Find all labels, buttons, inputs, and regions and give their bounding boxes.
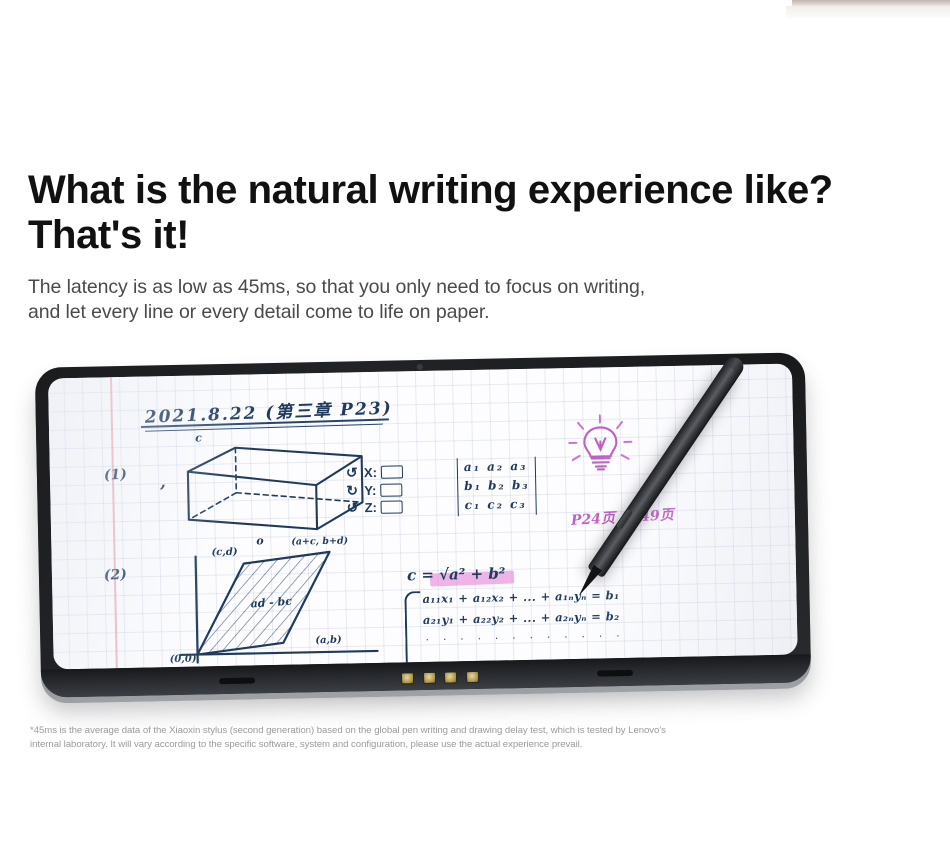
matrix-cells: a₁ a₂ a₃ b₁ b₂ b₃ c₁ c₂ c₃ <box>461 457 533 516</box>
subtitle-line-2: and let every line or every detail come … <box>28 300 928 325</box>
equation-brace <box>404 591 422 669</box>
device-stage: 2021.8.22 (第三章 P23) (1) , <box>0 340 950 720</box>
note-point-origin: (0,0) <box>170 654 197 666</box>
rotation-arrow-icon: ↻ <box>346 482 360 500</box>
note-equation-system: a₁₁x₁ + a₁₂x₂ + ... + a₁ₙyₙ = b₁ a₂₁y₁ +… <box>404 584 655 648</box>
cuboid-drawing <box>181 440 369 536</box>
footnote-line-2: internal laboratory. It will vary accord… <box>30 738 935 752</box>
note-xyz-row-y: ↻ Y: <box>346 480 454 500</box>
pogo-pin <box>444 671 457 683</box>
note-xyz-list: ↺ X: ↻ Y: ↺ Z: <box>346 462 455 517</box>
pogo-pin <box>423 672 436 684</box>
speaker-grille-right <box>597 670 633 677</box>
page-title-line-1: What is the natural writing experience l… <box>28 168 928 213</box>
note-vertex-o: o <box>256 534 264 547</box>
note-xyz-checkbox-x <box>381 466 403 479</box>
tablet-screen[interactable]: 2021.8.22 (第三章 P23) (1) , <box>48 364 798 670</box>
copy-block: What is the natural writing experience l… <box>28 168 928 325</box>
top-edge-artifact <box>792 0 950 7</box>
matrix-row-3: c₁ c₂ c₃ <box>464 495 530 515</box>
note-formula: c = √a² + b² <box>407 564 506 584</box>
matrix-row-1: a₁ a₂ a₃ <box>464 457 530 477</box>
subtitle-line-1: The latency is as low as 45ms, so that y… <box>28 275 928 300</box>
pogo-pin-connector <box>401 671 479 683</box>
note-xyz-row-z: ↺ Z: <box>346 497 454 517</box>
note-item-2-label: (2) <box>104 567 128 584</box>
note-item-1-comma: , <box>160 472 166 491</box>
pogo-pin <box>466 671 479 683</box>
note-point-ab: (a,b) <box>315 635 342 647</box>
matrix-bar-left <box>457 458 459 516</box>
note-vertex-c: c <box>195 431 202 444</box>
footnote-line-1: *45ms is the average data of the Xiaoxin… <box>30 724 935 738</box>
rotation-arrow-icon: ↺ <box>346 499 360 517</box>
note-xyz-row-x: ↺ X: <box>346 462 454 482</box>
footnote: *45ms is the average data of the Xiaoxin… <box>30 724 935 752</box>
note-item-1-label: (1) <box>104 467 128 484</box>
pogo-pin <box>401 672 414 684</box>
note-point-acbd: (a+c, b+d) <box>291 536 348 548</box>
notebook-paper[interactable]: 2021.8.22 (第三章 P23) (1) , <box>48 364 798 670</box>
speaker-grille-left <box>219 677 255 684</box>
lightbulb-icon <box>564 411 637 484</box>
matrix-row-2: b₁ b₂ b₃ <box>464 476 530 496</box>
front-camera-icon <box>418 365 422 369</box>
note-xyz-label-x: X: <box>364 464 377 482</box>
page-title-line-2: That's it! <box>28 213 928 258</box>
note-xyz-label-z: Z: <box>364 499 377 517</box>
rotation-arrow-icon: ↺ <box>346 464 360 482</box>
note-point-cd: (c,d) <box>211 547 237 559</box>
parallelogram-drawing <box>177 547 399 670</box>
note-xyz-checkbox-z <box>381 501 403 514</box>
note-matrix: a₁ a₂ a₃ b₁ b₂ b₃ c₁ c₂ c₃ <box>457 457 537 517</box>
note-xyz-label-y: Y: <box>364 481 376 499</box>
note-xyz-checkbox-y <box>380 483 402 496</box>
